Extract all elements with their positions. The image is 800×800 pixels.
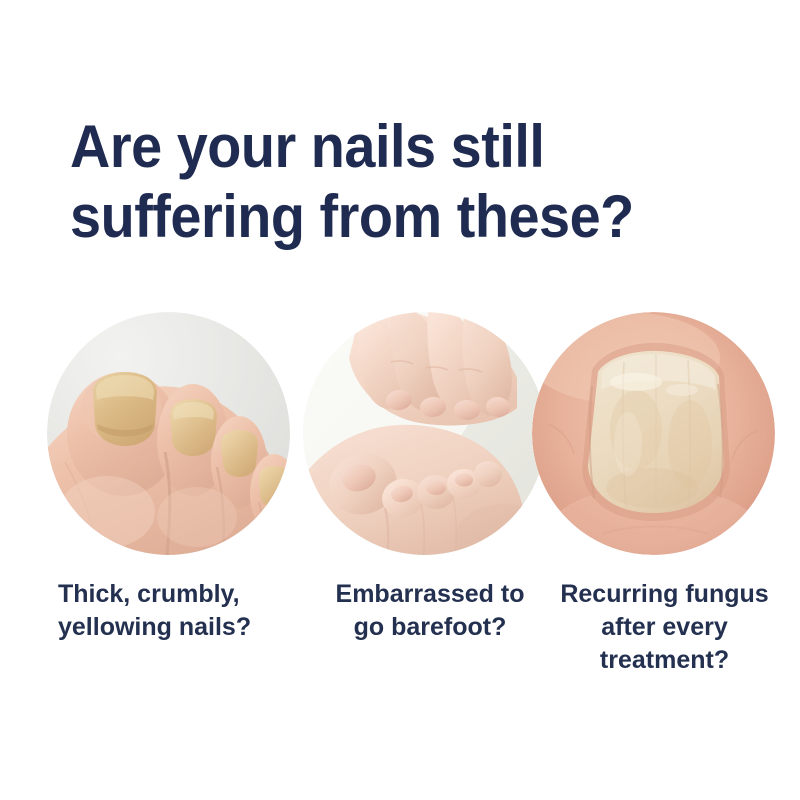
card-embarrassed-barefoot [303,312,546,555]
caption-thick-crumbly-nails: Thick, crumbly, yellowing nails? [58,578,308,644]
toenail-macro-photo [532,312,775,555]
page-title: Are your nails still suffering from thes… [70,112,684,252]
promo-page: Are your nails still suffering from thes… [0,0,800,800]
caption-recurring-fungus: Recurring fungus after every treatment? [552,578,777,677]
hand-on-bare-foot-photo [303,312,546,555]
card-thick-crumbly-nails [47,312,290,555]
caption-embarrassed-barefoot: Embarrassed to go barefoot? [310,578,550,644]
yellowed-toenails-photo [47,312,290,555]
photo-row [0,312,800,560]
card-recurring-fungus [532,312,775,555]
